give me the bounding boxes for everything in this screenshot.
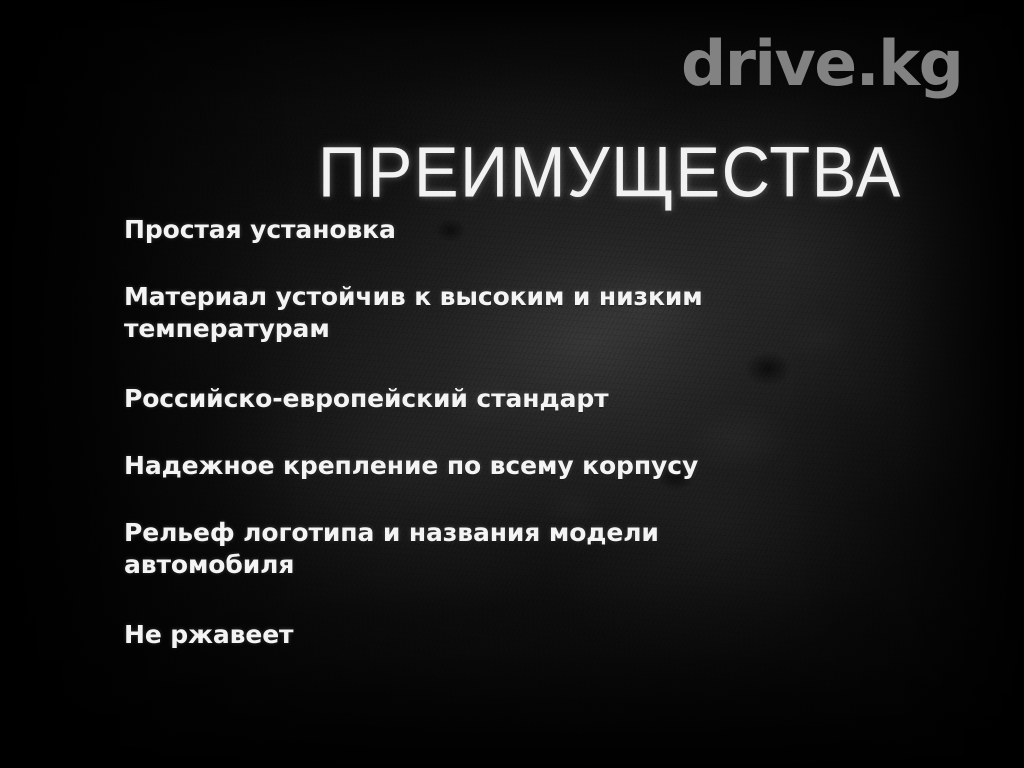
list-item: Рельеф логотипа и названия модели автомо…: [124, 517, 824, 581]
slide-content: drive.kg ПРЕИМУЩЕСТВА Простая установка …: [0, 0, 1024, 768]
benefits-list: Простая установка Материал устойчив к вы…: [124, 214, 824, 651]
list-item: Российско-европейский стандарт: [124, 383, 824, 415]
watermark-drive-kg: drive.kg: [681, 33, 962, 95]
list-item: Не ржавеет: [124, 619, 824, 651]
slide-canvas: drive.kg ПРЕИМУЩЕСТВА Простая установка …: [0, 0, 1024, 768]
list-item: Материал устойчив к высоким и низким тем…: [124, 281, 824, 345]
page-title: ПРЕИМУЩЕСТВА: [318, 137, 902, 208]
list-item: Надежное крепление по всему корпусу: [124, 450, 824, 482]
list-item: Простая установка: [124, 214, 824, 246]
